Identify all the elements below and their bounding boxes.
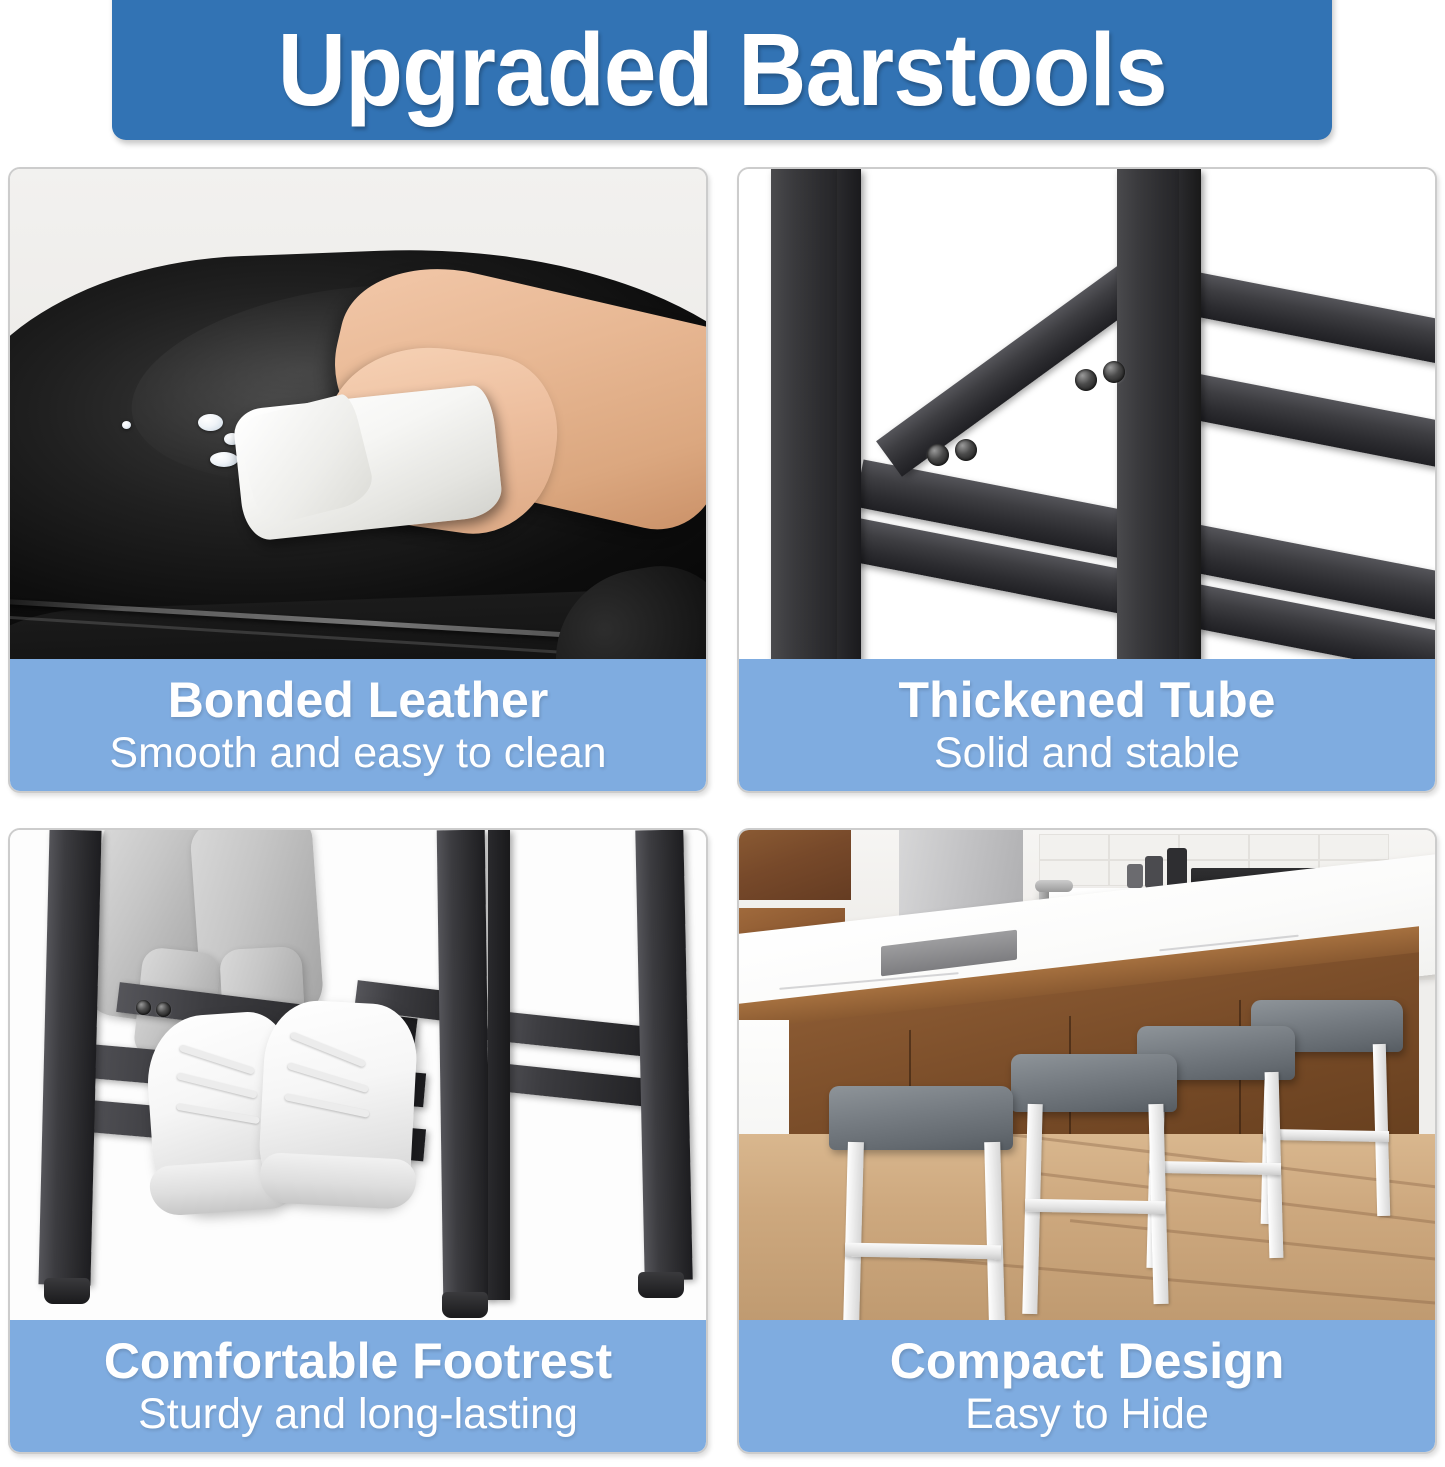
- left-leg-inner-edge: [837, 169, 861, 663]
- panel-caption: Compact Design Easy to Hide: [739, 1320, 1435, 1452]
- water-droplet: [122, 421, 131, 429]
- page-title: Upgraded Barstools: [277, 23, 1166, 118]
- feature-panel-bonded-leather: Bonded Leather Smooth and easy to clean: [8, 167, 708, 793]
- header-banner: Upgraded Barstools: [112, 0, 1332, 140]
- thickened-tube-photo: [739, 169, 1435, 663]
- kitchen-photo: [739, 830, 1435, 1324]
- wall-cabinet: [739, 830, 851, 900]
- barstool-footrail: [1263, 1129, 1389, 1142]
- mid-leg-second: [488, 830, 510, 1300]
- sneaker-right-sole: [259, 1152, 417, 1210]
- panel-subtitle: Easy to Hide: [965, 1390, 1209, 1438]
- screw: [136, 1000, 151, 1015]
- barstool-footrail: [1149, 1161, 1281, 1175]
- panel-title: Bonded Leather: [168, 673, 549, 727]
- screw: [927, 444, 949, 466]
- rear-right-leg: [635, 830, 692, 1280]
- floor-glide: [442, 1292, 488, 1318]
- barstool-footrail: [845, 1243, 1001, 1260]
- panel-subtitle: Sturdy and long-lasting: [138, 1390, 578, 1438]
- barstool-footrail: [1025, 1199, 1165, 1214]
- panel-title: Thickened Tube: [899, 673, 1276, 727]
- backsplash-tile: [1039, 834, 1109, 860]
- floor-glide: [44, 1278, 90, 1304]
- panel-title: Compact Design: [890, 1334, 1285, 1388]
- feature-panel-thickened-tube: Thickened Tube Solid and stable: [737, 167, 1437, 793]
- floor-glide: [638, 1272, 684, 1298]
- backsplash-tile: [1249, 834, 1319, 860]
- panel-title: Comfortable Footrest: [104, 1334, 612, 1388]
- canister: [1127, 864, 1143, 888]
- panel-subtitle: Solid and stable: [934, 729, 1240, 777]
- backsplash-tile: [1319, 834, 1389, 860]
- backsplash-tile: [1179, 834, 1249, 860]
- feature-panel-compact-design: Compact Design Easy to Hide: [737, 828, 1437, 1454]
- screw: [156, 1002, 171, 1017]
- panel-caption: Thickened Tube Solid and stable: [739, 659, 1435, 791]
- water-droplet: [210, 452, 238, 467]
- right-leg-inner-edge: [1179, 169, 1201, 663]
- water-droplet: [198, 414, 223, 431]
- mid-leg: [437, 830, 492, 1300]
- bonded-leather-photo: [10, 169, 706, 663]
- canister: [1145, 856, 1163, 888]
- screw: [1103, 361, 1125, 383]
- faucet-spout: [1035, 880, 1073, 892]
- front-left-leg: [38, 830, 101, 1286]
- feature-panel-comfortable-footrest: Comfortable Footrest Sturdy and long-las…: [8, 828, 708, 1454]
- panel-subtitle: Smooth and easy to clean: [109, 729, 606, 777]
- barstool-seat: [829, 1086, 1013, 1150]
- product-infographic: Upgraded Barstools: [0, 0, 1445, 1467]
- screw: [955, 439, 977, 461]
- panel-caption: Bonded Leather Smooth and easy to clean: [10, 659, 706, 791]
- panel-caption: Comfortable Footrest Sturdy and long-las…: [10, 1320, 706, 1452]
- footrest-photo: [10, 830, 706, 1324]
- screw: [1075, 369, 1097, 391]
